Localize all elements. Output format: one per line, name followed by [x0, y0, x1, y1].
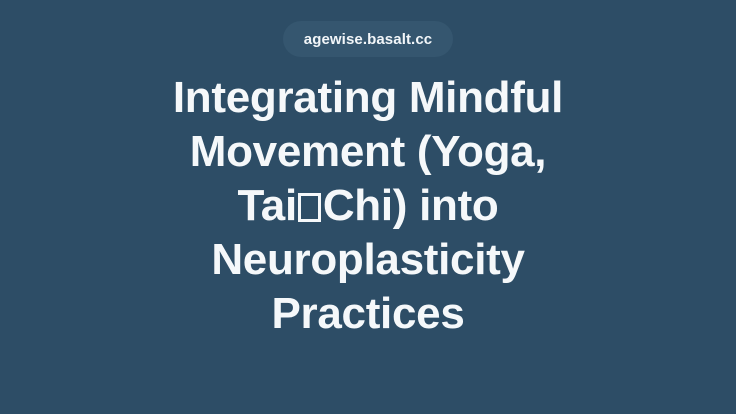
headline-line-2: Movement (Yoga,	[88, 125, 648, 179]
domain-badge-label: agewise.basalt.cc	[304, 32, 432, 47]
headline-line-4: Neuroplasticity	[88, 233, 648, 287]
social-card: agewise.basalt.cc Integrating MindfulMov…	[0, 0, 736, 414]
headline-line-5: Practices	[88, 287, 648, 341]
domain-badge: agewise.basalt.cc	[283, 21, 453, 57]
missing-glyph-icon	[298, 193, 321, 222]
headline-line-1: Integrating Mindful	[88, 71, 648, 125]
headline-line-3: TaiChi) into	[88, 179, 648, 233]
badge-row: agewise.basalt.cc	[0, 21, 736, 57]
headline-wrap: Integrating MindfulMovement (Yoga,TaiChi…	[0, 71, 736, 341]
page-title: Integrating MindfulMovement (Yoga,TaiChi…	[88, 71, 648, 341]
